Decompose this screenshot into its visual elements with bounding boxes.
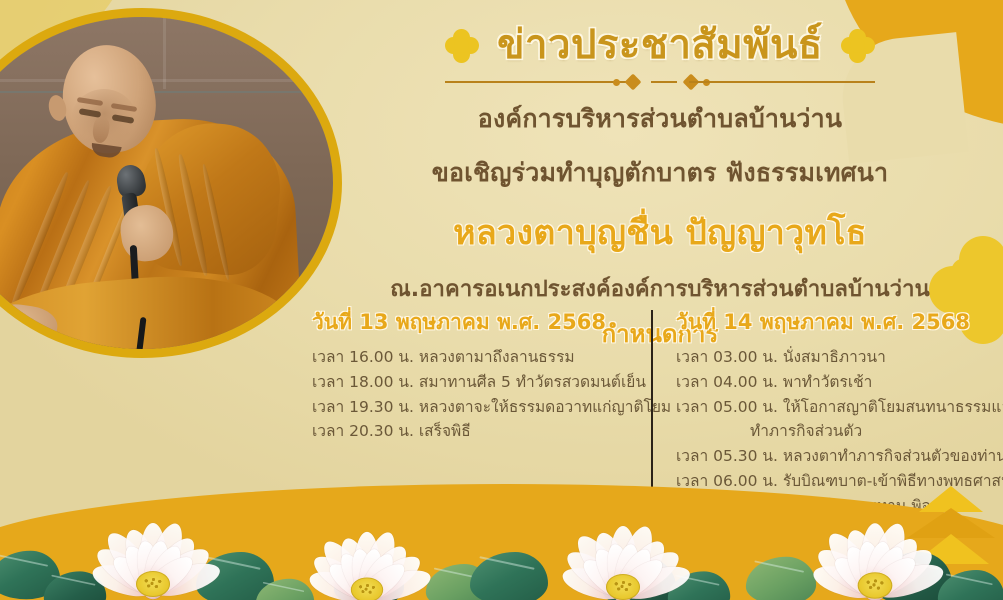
schedule-line: ทำภารกิจส่วนตัว — [676, 419, 1003, 444]
schedule-line: เวลา 04.00 น. พาทำวัตรเช้า — [676, 370, 1003, 395]
day2-heading: วันที่ 14 พฤษภาคม พ.ศ. 2568 — [676, 306, 1003, 339]
title-underline-ornament — [445, 75, 875, 89]
schedule-line: เวลา 05.00 น. ให้โอกาสญาติโยมสนทนาธรรมแล… — [676, 395, 1003, 420]
column-divider — [651, 310, 653, 508]
schedule-line: เวลา 03.00 น. นั่งสมาธิภาวนา — [676, 345, 1003, 370]
lotus-seed-pod-icon — [351, 577, 383, 600]
lotus-seed-pod-icon — [606, 574, 640, 600]
flourish-left-icon — [445, 29, 479, 63]
portrait-gold-ring — [0, 8, 342, 358]
schedule-line: เวลา 16.00 น. หลวงตามาถึงลานธรรม — [312, 345, 642, 370]
schedule-line: เวลา 20.30 น. เสร็จพิธี — [312, 419, 642, 444]
invitation-text: ขอเชิญร่วมทำบุญตักบาตร ฟังธรรมเทศนา — [330, 153, 990, 193]
header-block: ข่าวประชาสัมพันธ์ องค์การบริหารส่วนตำบลบ… — [330, 22, 990, 353]
monk-name-heading: หลวงตาบุญชื่น ปัญญาวุทโธ — [330, 205, 990, 259]
schedule-line: เวลา 05.30 น. หลวงตาทำภารกิจส่วนตัวของท่… — [676, 444, 1003, 469]
schedule-line: เวลา 18.00 น. สมาทานศีล 5 ทำวัตรสวดมนต์เ… — [312, 370, 642, 395]
lotus-flower-icon — [78, 505, 228, 600]
day1-lines: เวลา 16.00 น. หลวงตามาถึงลานธรรมเวลา 18.… — [312, 345, 642, 444]
page-title: ข่าวประชาสัมพันธ์ — [497, 22, 823, 69]
lotus-flower-icon — [296, 515, 439, 600]
portrait-photo-image — [0, 17, 333, 349]
lotus-flower-icon — [799, 505, 952, 600]
poster-canvas: ข่าวประชาสัมพันธ์ องค์การบริหารส่วนตำบลบ… — [0, 0, 1003, 600]
venue-text: ณ.อาคารอเนกประสงค์องค์การบริหารส่วนตำบลบ… — [330, 271, 990, 306]
lotus-seed-pod-icon — [136, 571, 170, 597]
title-row: ข่าวประชาสัมพันธ์ — [330, 22, 990, 69]
schedule-line: เวลา 19.30 น. หลวงตาจะให้ธรรมดอวาทแก่ญาต… — [312, 395, 642, 420]
lotus-seed-pod-icon — [858, 572, 893, 599]
lotus-flower-icon — [548, 508, 698, 600]
monk-portrait — [0, 8, 342, 358]
day1-heading: วันที่ 13 พฤษภาคม พ.ศ. 2568 — [312, 306, 642, 339]
organization-name: องค์การบริหารส่วนตำบลบ้านว่าน — [330, 99, 990, 139]
flourish-right-icon — [841, 29, 875, 63]
